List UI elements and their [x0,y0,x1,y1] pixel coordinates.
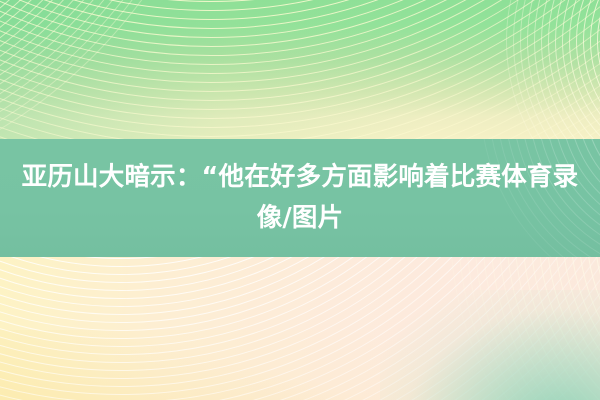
headline: 亚历山大暗示：“他在好多方面影响着比赛体育录 像/图片 [0,139,600,257]
headline-line-2: 像/图片 [257,198,344,239]
banner: 亚历山大暗示：“他在好多方面影响着比赛体育录 像/图片 [0,0,600,400]
bottom-yellow-tint [0,330,600,400]
headline-line-1: 亚历山大暗示：“他在好多方面影响着比赛体育录 [22,157,579,198]
bottom-gradient-panel [0,257,600,400]
top-panel-tint [0,0,600,139]
top-gradient-panel [0,0,600,139]
bottom-right-green-accent [380,290,600,400]
